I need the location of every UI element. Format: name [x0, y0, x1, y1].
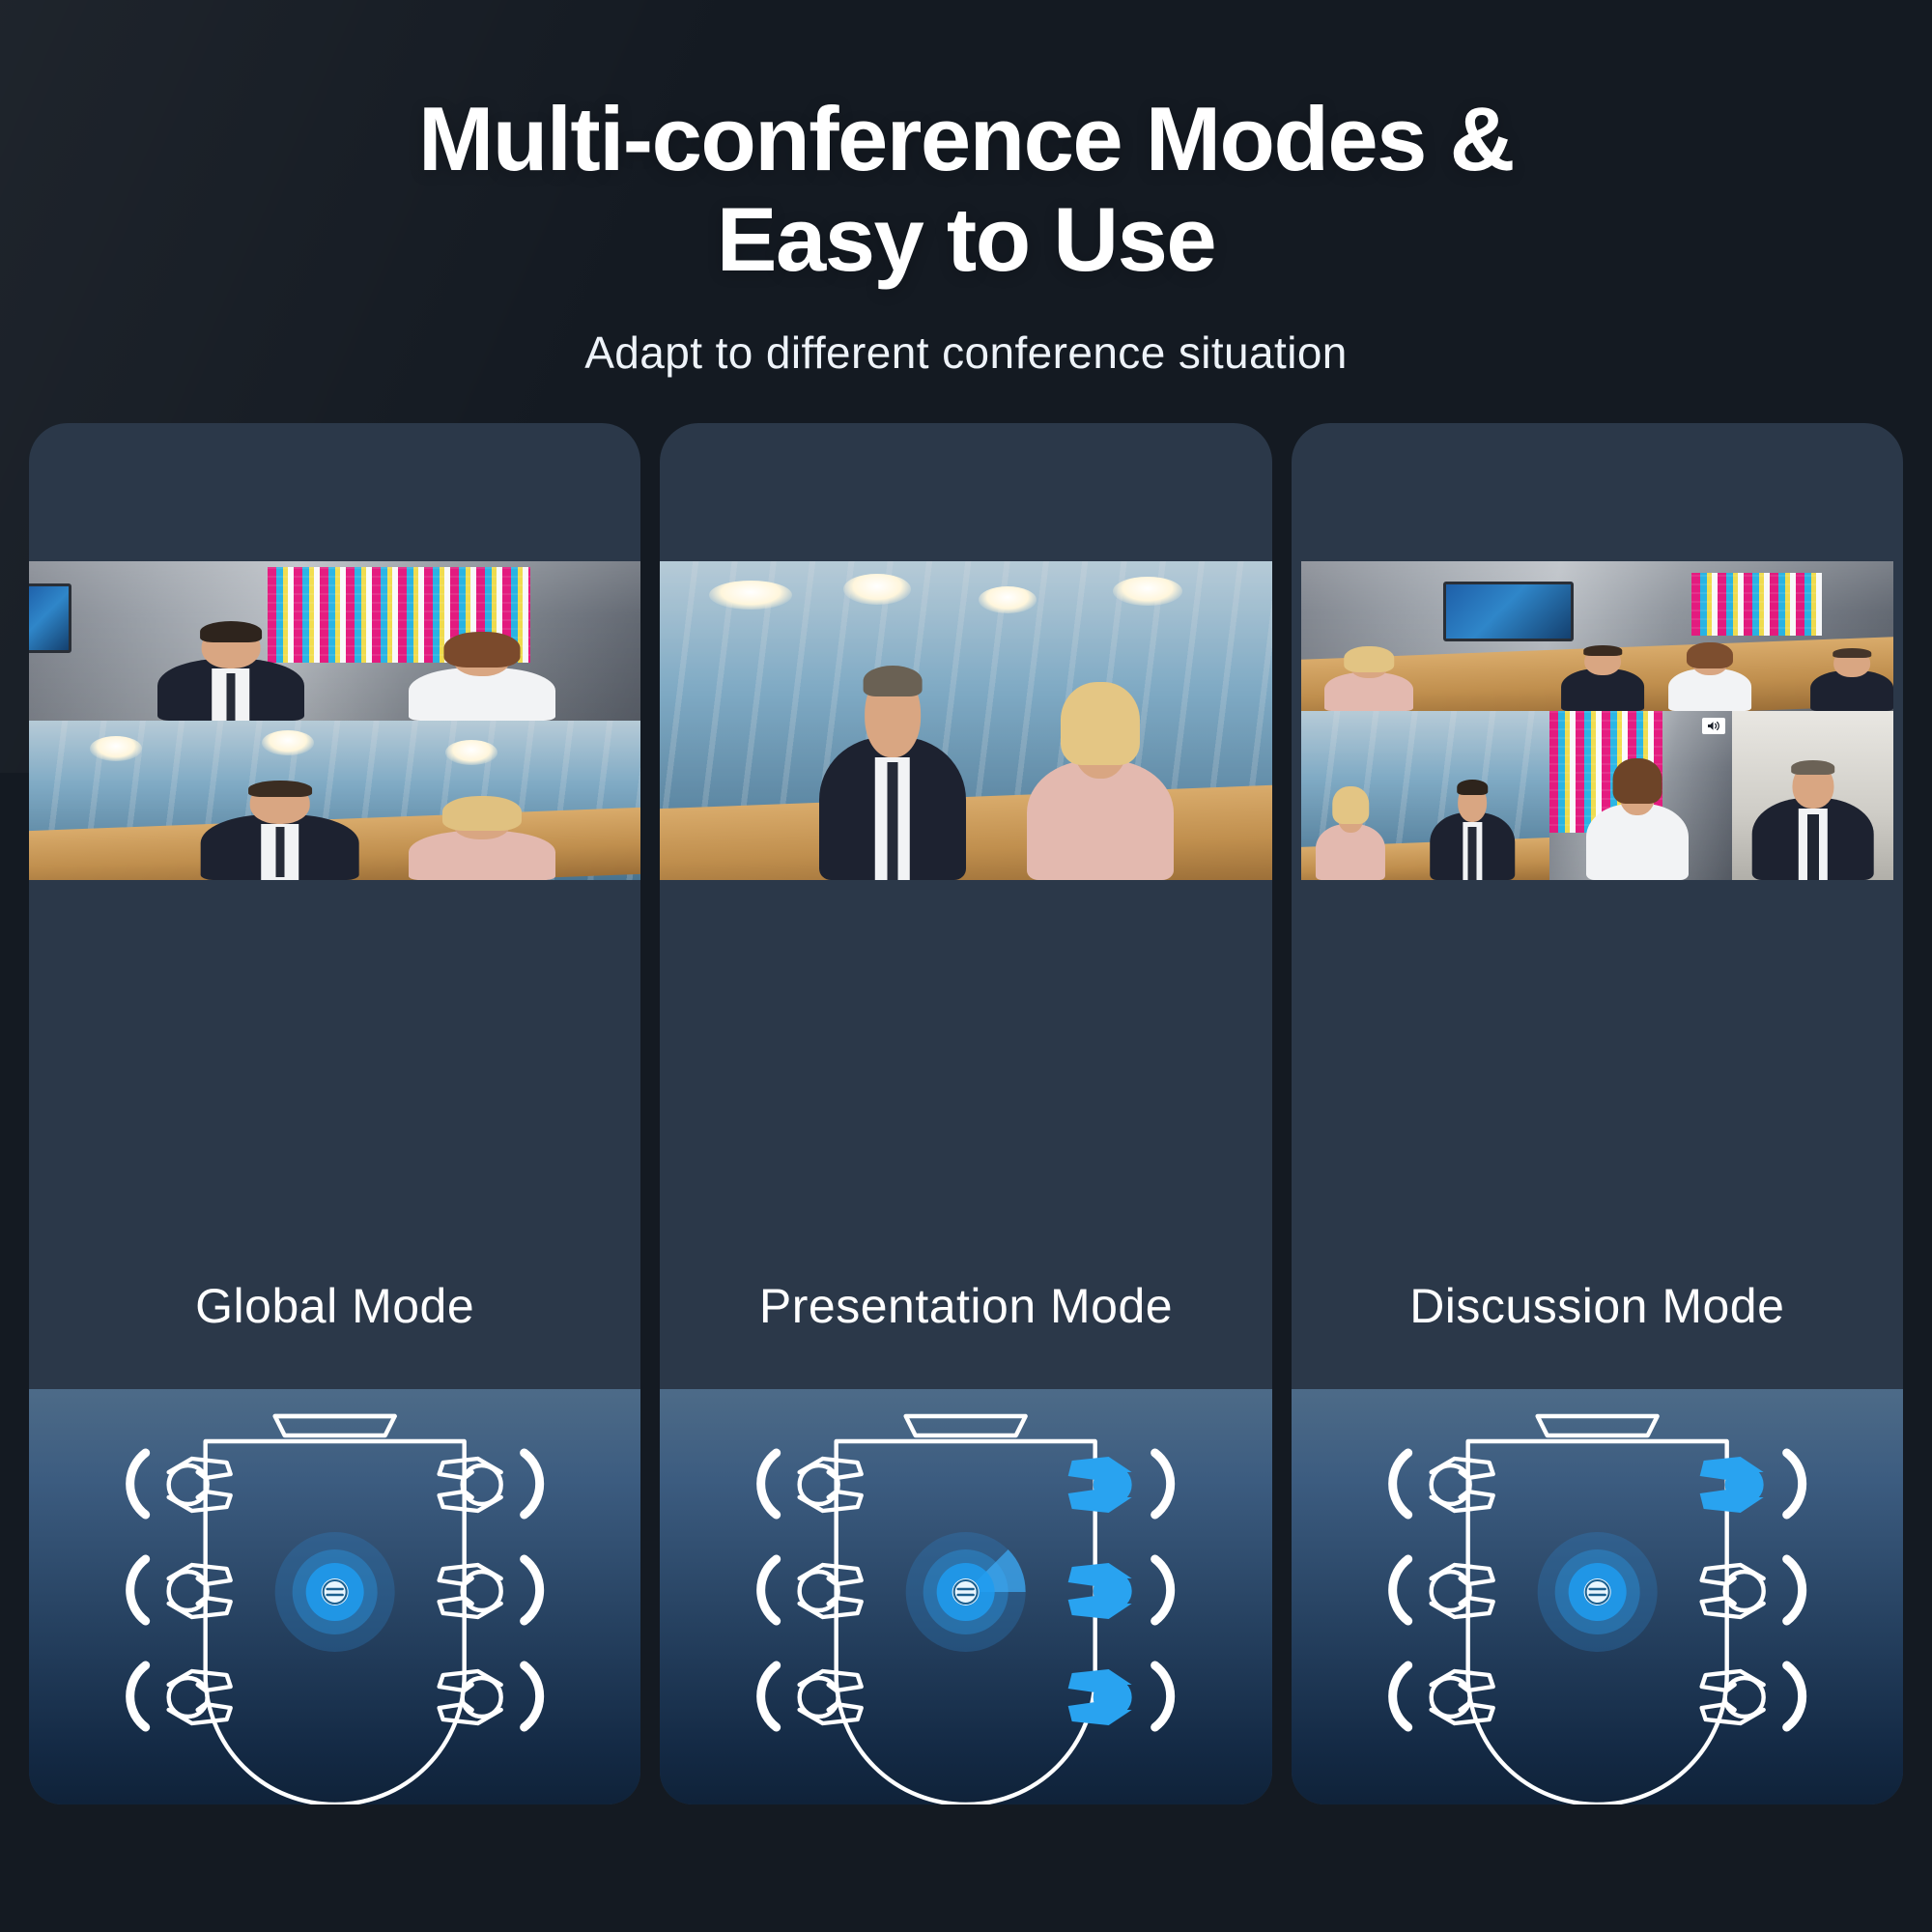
seat-right-2-active — [1068, 1559, 1171, 1621]
video-tile — [1732, 711, 1893, 880]
seat-left-3 — [1392, 1665, 1492, 1727]
room-diagram-svg — [29, 1389, 640, 1804]
mode-card-presentation[interactable]: Presentation Mode — [660, 423, 1271, 1804]
screen-icon — [906, 1416, 1026, 1435]
video-tile — [29, 721, 640, 880]
room-diagram-discussion — [1292, 1389, 1903, 1804]
seat-left-1 — [1392, 1453, 1492, 1515]
page-background: Multi-conference Modes & Easy to Use Ada… — [0, 0, 1932, 1932]
video-tile-active[interactable] — [1549, 711, 1732, 880]
seat-left-3 — [130, 1665, 231, 1727]
page-subtitle: Adapt to different conference situation — [0, 327, 1932, 379]
seat-left-1 — [130, 1453, 231, 1515]
seat-right-3-active — [1068, 1665, 1171, 1727]
seat-right-1 — [440, 1453, 540, 1515]
seat-right-3 — [440, 1665, 540, 1727]
seat-right-3 — [1701, 1665, 1802, 1727]
seat-left-2 — [761, 1559, 862, 1621]
video-tile — [29, 561, 640, 721]
header: Multi-conference Modes & Easy to Use Ada… — [0, 0, 1932, 379]
page-title-line-2: Easy to Use — [0, 193, 1932, 286]
microphone-icon — [275, 1532, 395, 1652]
room-diagram-global — [29, 1389, 640, 1804]
mode-label-global: Global Mode — [29, 1278, 640, 1334]
seat-left-2 — [1392, 1559, 1492, 1621]
speaker-icon — [1702, 718, 1725, 734]
room-diagram-svg — [1292, 1389, 1903, 1804]
seat-left-1 — [761, 1453, 862, 1515]
room-diagram-svg — [660, 1389, 1271, 1804]
seat-right-2 — [1701, 1559, 1802, 1621]
mode-cards-row: Global Mode — [0, 423, 1932, 1804]
seat-left-3 — [761, 1665, 862, 1727]
seat-right-2 — [440, 1559, 540, 1621]
video-grid-global — [29, 561, 640, 880]
video-grid-presentation — [660, 561, 1271, 880]
microphone-icon — [1537, 1532, 1657, 1652]
microphone-icon — [906, 1532, 1026, 1652]
video-tile — [660, 561, 1271, 880]
seat-right-1-active — [1068, 1453, 1171, 1515]
page-title: Multi-conference Modes & Easy to Use — [0, 93, 1932, 286]
mode-label-discussion: Discussion Mode — [1292, 1278, 1903, 1334]
screen-icon — [1537, 1416, 1657, 1435]
room-diagram-presentation — [660, 1389, 1271, 1804]
mode-card-discussion[interactable]: Discussion Mode — [1292, 423, 1903, 1804]
video-tile — [1301, 561, 1893, 711]
mode-card-global[interactable]: Global Mode — [29, 423, 640, 1804]
video-tile — [1301, 711, 1549, 880]
page-title-line-1: Multi-conference Modes & — [0, 93, 1932, 185]
seat-left-2 — [130, 1559, 231, 1621]
video-grid-discussion — [1301, 561, 1893, 880]
seat-right-1-active — [1699, 1453, 1802, 1515]
screen-icon — [275, 1416, 395, 1435]
mode-label-presentation: Presentation Mode — [660, 1278, 1271, 1334]
